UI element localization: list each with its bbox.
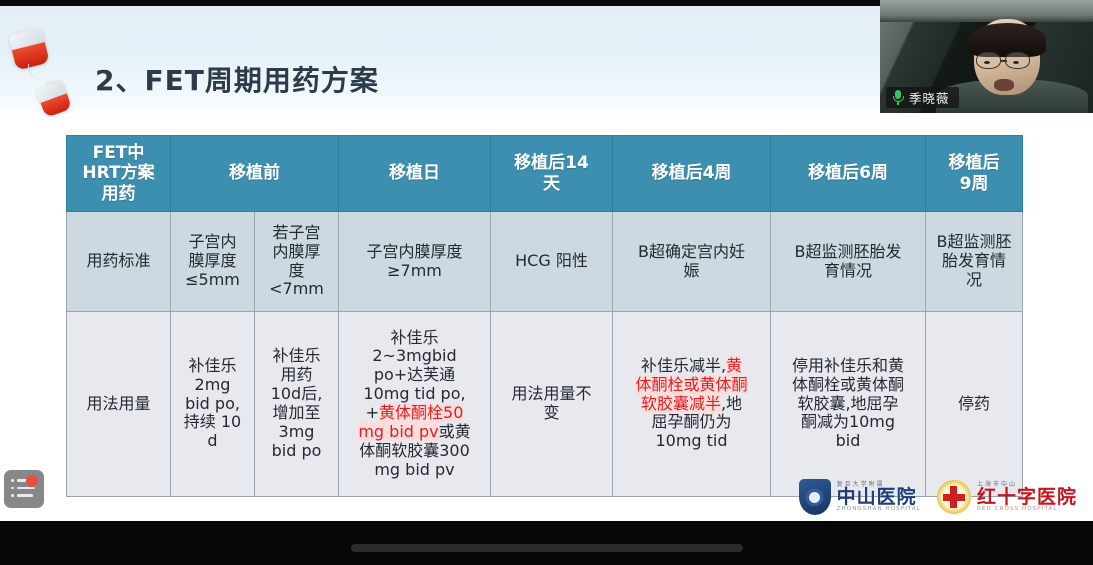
cell-dose-pre-b: 补佳乐 用药 10d后, 增加至 3mg bid po (255, 312, 339, 497)
red-cross-logo-icon (937, 480, 971, 514)
text-line: bid (836, 431, 861, 450)
text-line: 度 (288, 261, 304, 280)
text-line: 内膜厚 (272, 242, 320, 261)
text-line: bid po, (185, 394, 240, 413)
bottom-bar (0, 521, 1093, 565)
table-row-dose: 用法用量 补佳乐 2mg bid po, 持续 10 d 补佳乐 用药 10d后… (67, 312, 1023, 497)
text-line: 软胶囊,地屈孕 (797, 394, 898, 413)
th-before-transfer: 移植前 (171, 136, 339, 212)
text-line: 胎发育情 (942, 251, 1006, 270)
text-line: 娠 (683, 261, 699, 280)
text-line: 屈孕酮仍为 (651, 412, 731, 431)
th-line2: HRT方案 (82, 163, 154, 183)
hospital-logos: 复旦大学附属 中山医院 ZHONGSHAN HOSPITAL 上海市中山 红十字… (799, 479, 1077, 515)
text-line: 育情况 (824, 261, 872, 280)
text-line: mg bid pv (374, 460, 454, 479)
text-line: ≥7mm (387, 261, 442, 280)
text-line-highlight: mg bid pv (358, 422, 438, 441)
text-line: 持续 10 (184, 412, 241, 431)
row-label-standard: 用药标准 (67, 212, 171, 312)
video-ceiling (880, 0, 1093, 22)
microphone-icon[interactable] (892, 90, 904, 105)
th-day14: 移植后14 天 (491, 136, 613, 212)
text-line: 子宫内膜厚度 (366, 242, 462, 261)
row-label-dose: 用法用量 (67, 312, 171, 497)
th-week9-line2: 9周 (960, 174, 989, 194)
glasses-bridge (1001, 60, 1007, 62)
cell-standard-week6: B超监测胚胎发 育情况 (771, 212, 926, 312)
page-title: 2、FET周期用药方案 (95, 59, 379, 99)
participant-name-tag: 季晓薇 (886, 87, 959, 108)
horizontal-scrollbar[interactable] (351, 544, 743, 552)
text-line: 停用补佳乐和黄 (792, 356, 904, 375)
cell-dose-week9: 停药 (926, 312, 1023, 497)
table-header-row: FET中 HRT方案 用药 移植前 移植日 移植后14 天 移植后4周 移植后6… (67, 136, 1023, 212)
text-line-highlight: 黄 (726, 356, 742, 375)
logo-sub: ZHONGSHAN HOSPITAL (837, 507, 921, 513)
participants-list-icon[interactable] (4, 470, 44, 508)
text-line: 体酮软胶囊300 (359, 441, 470, 460)
text-line: 补佳乐减半, (641, 356, 726, 375)
text-line: 体酮栓或黄体酮 (792, 375, 904, 394)
text-line: 2~3mgbid (372, 346, 456, 365)
blood-bag-icon-secondary (36, 80, 80, 128)
text-line: 膜厚度 (188, 251, 236, 270)
participant-name: 季晓薇 (909, 88, 950, 107)
logo-sub: RED CROSS HOSPITAL (977, 507, 1077, 513)
cell-standard-pre-b: 若子宫 内膜厚 度 <7mm (255, 212, 339, 312)
cell-standard-week9: B超监测胚 胎发育情 况 (926, 212, 1023, 312)
blood-bag-icon (6, 26, 58, 82)
text-line: 酮减为10mg (801, 412, 895, 431)
table-row-standard: 用药标准 子宫内 膜厚度 ≤5mm 若子宫 内膜厚 度 <7mm 子宫内膜厚度 (67, 212, 1023, 312)
text-line: 2mg (195, 375, 231, 394)
text-line-highlight: 体酮栓或黄体酮 (635, 375, 747, 394)
th-week4: 移植后4周 (613, 136, 771, 212)
text-line: 补佳乐 (390, 328, 438, 347)
text-line: <7mm (269, 279, 324, 298)
participant-video-tile[interactable]: 季晓薇 (880, 0, 1093, 113)
text-line: B超监测胚胎发 (795, 242, 902, 261)
th-line3: 用药 (102, 184, 136, 204)
text-line: B超监测胚 (937, 232, 1012, 251)
notification-badge (26, 475, 38, 487)
text-line: 补佳乐 (188, 356, 236, 375)
th-line1: FET中 (93, 143, 145, 163)
figure-hair (968, 23, 1046, 57)
fet-protocol-table: FET中 HRT方案 用药 移植前 移植日 移植后14 天 移植后4周 移植后6… (66, 135, 1023, 497)
text-line: 10d后, (271, 384, 323, 403)
text-line-highlight: 软胶囊减半 (641, 394, 721, 413)
logo-main: 红十字医院 (977, 488, 1077, 507)
meeting-screen: 2、FET周期用药方案 FET中 HRT方案 用药 (0, 0, 1093, 565)
text-line: d (207, 431, 217, 450)
th-week9: 移植后 9周 (926, 136, 1023, 212)
text-line: 补佳乐 (272, 346, 320, 365)
cell-dose-day14: 用法用量不 变 (491, 312, 613, 497)
text-line: ≤5mm (185, 270, 240, 289)
text-line: 况 (966, 270, 982, 289)
th-transfer-day: 移植日 (339, 136, 491, 212)
text-line: 10mg tid po, (363, 384, 465, 403)
cell-dose-day: 补佳乐 2~3mgbid po+达芙通 10mg tid po, +黄体酮栓50… (339, 312, 491, 497)
text-line: po+达芙通 (374, 365, 455, 384)
logo-red-cross: 上海市中山 红十字医院 RED CROSS HOSPITAL (937, 480, 1077, 514)
text-line: B超确定宫内妊 (638, 242, 745, 261)
text-line: ,地 (721, 394, 742, 413)
th-week6: 移植后6周 (771, 136, 926, 212)
text-line: 增加至 (272, 403, 320, 422)
cell-dose-pre-a: 补佳乐 2mg bid po, 持续 10 d (171, 312, 255, 497)
text-line: 或黄 (439, 422, 471, 441)
th-week9-line1: 移植后 (949, 153, 1000, 173)
text-line: 10mg tid (655, 431, 727, 450)
th-fet-hrt: FET中 HRT方案 用药 (67, 136, 171, 212)
cell-standard-day: 子宫内膜厚度 ≥7mm (339, 212, 491, 312)
cell-standard-week4: B超确定宫内妊 娠 (613, 212, 771, 312)
text-line: 变 (543, 403, 559, 422)
logo-main: 中山医院 (837, 488, 921, 507)
text-line: 用药 (280, 365, 312, 384)
th-day14-line2: 天 (543, 174, 560, 194)
shield-logo-icon (799, 479, 831, 515)
cell-standard-pre-a: 子宫内 膜厚度 ≤5mm (171, 212, 255, 312)
participant-figure (958, 31, 1066, 113)
text-line-highlight: 黄体酮栓50 (379, 403, 463, 422)
eye-right (1013, 61, 1019, 64)
text-line: 若子宫 (272, 223, 320, 242)
text-line: 子宫内 (188, 232, 236, 251)
text-line: 用法用量不 (511, 384, 591, 403)
text-line: bid po (272, 441, 322, 460)
text-line: 3mg (279, 422, 315, 441)
cell-dose-week4: 补佳乐减半,黄 体酮栓或黄体酮 软胶囊减半,地 屈孕酮仍为 10mg tid (613, 312, 771, 497)
cell-dose-week6: 停用补佳乐和黄 体酮栓或黄体酮 软胶囊,地屈孕 酮减为10mg bid (771, 312, 926, 497)
mouth (994, 79, 1014, 91)
eye-left (984, 61, 990, 64)
cell-standard-day14: HCG 阳性 (491, 212, 613, 312)
text-line: + (366, 403, 379, 422)
th-day14-line1: 移植后14 (514, 153, 589, 173)
logo-zhongshan: 复旦大学附属 中山医院 ZHONGSHAN HOSPITAL (799, 479, 921, 515)
